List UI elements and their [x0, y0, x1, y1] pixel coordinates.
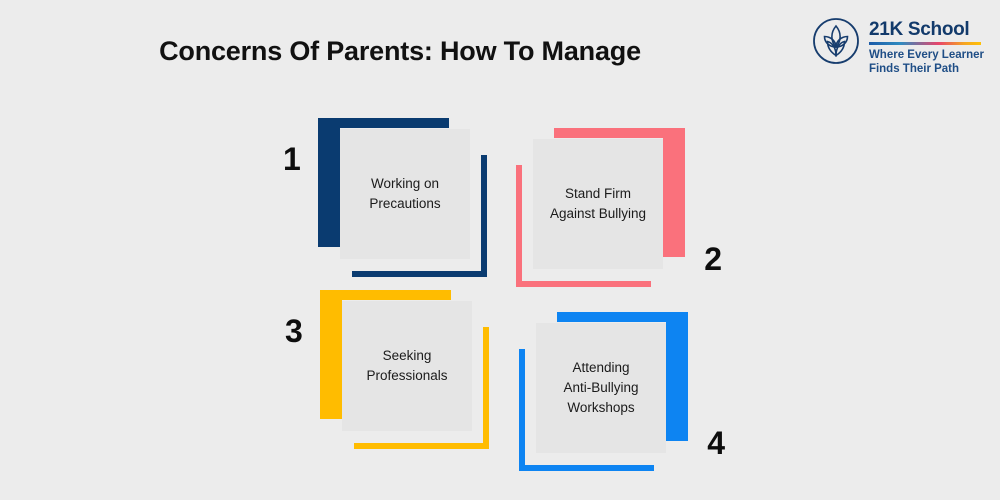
concern-card-2[interactable]: Stand Firm Against Bullying 2: [510, 128, 685, 293]
card-4-thin-arm-vertical: [519, 349, 525, 471]
brand-text: 21K School Where Every Learner Finds The…: [869, 17, 984, 76]
card-1-thin-arm-vertical: [481, 155, 487, 277]
card-3-thick-arm-vertical: [320, 290, 342, 419]
card-2-panel[interactable]: Stand Firm Against Bullying: [533, 139, 663, 269]
card-4-panel[interactable]: Attending Anti-Bullying Workshops: [536, 323, 666, 453]
concern-card-3[interactable]: Seeking Professionals 3: [320, 290, 495, 455]
concern-card-1[interactable]: Working on Precautions 1: [318, 118, 493, 283]
card-4-thick-arm-horizontal: [557, 312, 688, 322]
card-2-label: Stand Firm Against Bullying: [550, 184, 646, 224]
card-4-number: 4: [707, 427, 725, 459]
card-2-thick-arm-vertical: [663, 128, 685, 257]
card-4-thick-arm-vertical: [666, 312, 688, 441]
card-3-panel[interactable]: Seeking Professionals: [342, 301, 472, 431]
card-3-label: Seeking Professionals: [366, 346, 447, 386]
card-2-thin-arm-horizontal: [516, 281, 651, 287]
card-3-thin-arm-horizontal: [354, 443, 489, 449]
brand-logo: 21K School Where Every Learner Finds The…: [812, 17, 984, 76]
brand-gradient-rule: [869, 42, 981, 45]
card-1-thick-arm-horizontal: [318, 118, 449, 128]
card-4-thin-arm-horizontal: [519, 465, 654, 471]
concern-card-4[interactable]: Attending Anti-Bullying Workshops 4: [513, 312, 688, 477]
card-2-thin-arm-vertical: [516, 165, 522, 287]
brand-name: 21K School: [869, 19, 984, 40]
card-2-number: 2: [704, 243, 722, 275]
card-1-label: Working on Precautions: [369, 174, 440, 214]
brand-tagline-line-2: Finds Their Path: [869, 62, 984, 76]
card-3-thin-arm-vertical: [483, 327, 489, 449]
card-3-number: 3: [285, 315, 303, 347]
card-1-thick-arm-vertical: [318, 118, 340, 247]
card-4-label: Attending Anti-Bullying Workshops: [563, 358, 638, 418]
brand-tagline-line-1: Where Every Learner: [869, 48, 984, 62]
card-1-thin-arm-horizontal: [352, 271, 487, 277]
card-1-number: 1: [283, 143, 301, 175]
lotus-in-circle-icon: [812, 17, 860, 65]
card-2-thick-arm-horizontal: [554, 128, 685, 138]
card-3-thick-arm-horizontal: [320, 290, 451, 300]
card-1-panel[interactable]: Working on Precautions: [340, 129, 470, 259]
